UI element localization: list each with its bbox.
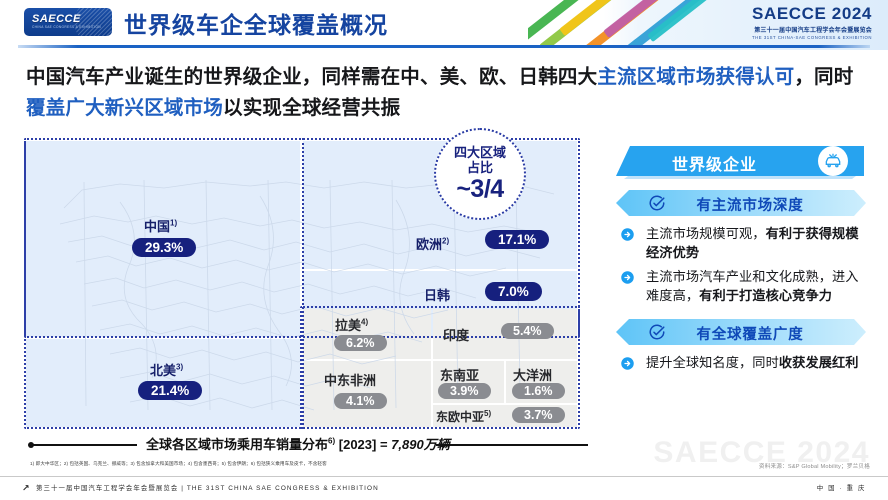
lead-highlight-2: 覆盖广大新兴区域市场 (26, 97, 223, 119)
label-europe: 欧洲2) (416, 234, 449, 253)
value-india: 5.4% (501, 323, 554, 339)
bullet-plain: 提升全球知名度，同时 (646, 355, 779, 370)
footer-separator: | (181, 485, 184, 492)
event-name-cn: 第三十一届中国汽车工程学会年会暨展览会 (712, 25, 872, 34)
sidebar-bullet: 主流市场汽车产业和文化成熟，进入难度高，有利于打造核心竞争力 (620, 267, 870, 305)
car-icon (818, 146, 848, 176)
label-southeast-asia: 东南亚 (440, 365, 479, 384)
caption-label: 全球各区域市场乘用车销量分布 (146, 437, 328, 452)
label-oceania: 大洋洲 (513, 365, 552, 384)
sidebar: 世界级企业 有主流市场深度 主流市场规模可观，有利于获得规模经济优势 主流市场汽… (612, 146, 870, 376)
label-east-europe-central-asia: 东欧中亚5) (436, 408, 491, 425)
footer-location: 中 国 · 重 庆 (817, 483, 866, 492)
arrow-circle-icon (620, 227, 635, 242)
logo-subtitle: CHINA SAE CONGRESS & EXHIBITION (32, 25, 101, 29)
value-latam: 6.2% (334, 335, 387, 351)
bullet-text: 提升全球知名度，同时收获发展红利 (646, 355, 859, 370)
caption-text: 全球各区域市场乘用车销量分布6) [2023] = 7,890万辆 (146, 434, 450, 453)
sidebar-bullet: 提升全球知名度，同时收获发展红利 (620, 353, 870, 372)
caption-footnote-marker: 6) (328, 437, 335, 446)
bubble-line-1: 四大区域 (454, 146, 506, 160)
label-latam: 拉美4) (335, 315, 368, 334)
label-north-america: 北美3) (150, 360, 183, 379)
event-name: SAECCE 2024 (712, 4, 872, 24)
bubble-line-2: 占比 (467, 161, 493, 175)
logo-text: SAECCE (32, 13, 81, 25)
bullet-bold: 有利于打造核心竞争力 (699, 288, 832, 303)
ribbon-decoration (528, 0, 708, 46)
value-oceania: 1.6% (512, 383, 565, 399)
value-japan-korea: 7.0% (485, 282, 542, 301)
page-footer: ↗ 第三十一届中国汽车工程学会年会暨展览会 | THE 31ST CHINA S… (0, 477, 888, 500)
caption-year: [2023] (339, 437, 377, 452)
section-title-2: 有全球覆盖广度 (616, 323, 866, 344)
label-mea: 中东非洲 (324, 370, 376, 389)
sidebar-section-header-2: 有全球覆盖广度 (616, 319, 866, 345)
bubble-line-3: ~3/4 (456, 176, 503, 202)
footer-text-cn: 第三十一届中国汽车工程学会年会暨展览会 (36, 485, 178, 492)
footer-text: 第三十一届中国汽车工程学会年会暨展览会 | THE 31ST CHINA SAE… (36, 483, 379, 492)
sidebar-section-header-1: 有主流市场深度 (616, 190, 866, 216)
lead-part-1: 中国汽车产业诞生的世界级企业，同样需在中、美、欧、日韩四大 (26, 66, 597, 88)
lead-paragraph: 中国汽车产业诞生的世界级企业，同样需在中、美、欧、日韩四大主流区域市场获得认可，… (26, 62, 866, 124)
total-sales-caption: 全球各区域市场乘用车销量分布6) [2023] = 7,890万辆 (28, 434, 588, 454)
title-divider (18, 45, 870, 48)
event-name-en: THE 31ST CHINA-SAE CONGRESS & EXHIBITION (712, 35, 872, 40)
banner-title: 世界级企业 (672, 151, 757, 175)
label-japan-korea: 日韩 (424, 285, 450, 304)
label-china: 中国1) (144, 216, 177, 235)
footer-text-en: THE 31ST CHINA SAE CONGRESS & EXHIBITION (187, 485, 379, 492)
value-mea: 4.1% (334, 393, 387, 409)
value-europe: 17.1% (485, 230, 549, 249)
lead-part-3: 以实现全球经营共振 (223, 97, 400, 119)
value-east-europe-central-asia: 3.7% (512, 407, 565, 423)
value-north-america: 21.4% (138, 381, 202, 400)
bullet-plain: 主流市场规模可观， (646, 226, 766, 241)
sidebar-banner: 世界级企业 (616, 146, 864, 176)
value-china: 29.3% (132, 238, 196, 257)
label-india: 印度 (443, 325, 469, 344)
saecce-logo: SAECCE CHINA SAE CONGRESS & EXHIBITION (24, 8, 112, 36)
lead-highlight-1: 主流区域市场获得认可 (597, 66, 794, 88)
bullet-text: 主流市场汽车产业和文化成熟，进入难度高，有利于打造核心竞争力 (646, 269, 859, 303)
event-branding: SAECCE 2024 第三十一届中国汽车工程学会年会暨展览会 THE 31ST… (712, 4, 872, 40)
source-note: 资料来源：S&P Global Mobility；罗兰贝格 (759, 462, 870, 470)
bullet-bold: 收获发展红利 (779, 355, 859, 370)
caption-leader-line-left (33, 444, 137, 446)
bullet-text: 主流市场规模可观，有利于获得规模经济优势 (646, 226, 859, 260)
value-southeast-asia: 3.9% (438, 383, 491, 399)
arrow-up-right-icon: ↗ (22, 483, 30, 494)
arrow-circle-icon (620, 356, 635, 371)
sidebar-bullet: 主流市场规模可观，有利于获得规模经济优势 (620, 224, 870, 262)
caption-leader-line-right (436, 444, 588, 446)
section-title-1: 有主流市场深度 (616, 194, 866, 215)
footnotes: 1) 即大中华区；2) 包括英国、乌克兰、挪威等；3) 包含加拿大和美国市场；4… (30, 461, 730, 467)
arrow-circle-icon (620, 270, 635, 285)
page-title: 世界级车企全球覆盖概况 (124, 6, 388, 40)
lead-part-2: ，同时 (794, 66, 853, 88)
share-callout-bubble: 四大区域 占比 ~3/4 (434, 128, 526, 220)
page-header: SAECCE CHINA SAE CONGRESS & EXHIBITION 世… (0, 0, 888, 52)
